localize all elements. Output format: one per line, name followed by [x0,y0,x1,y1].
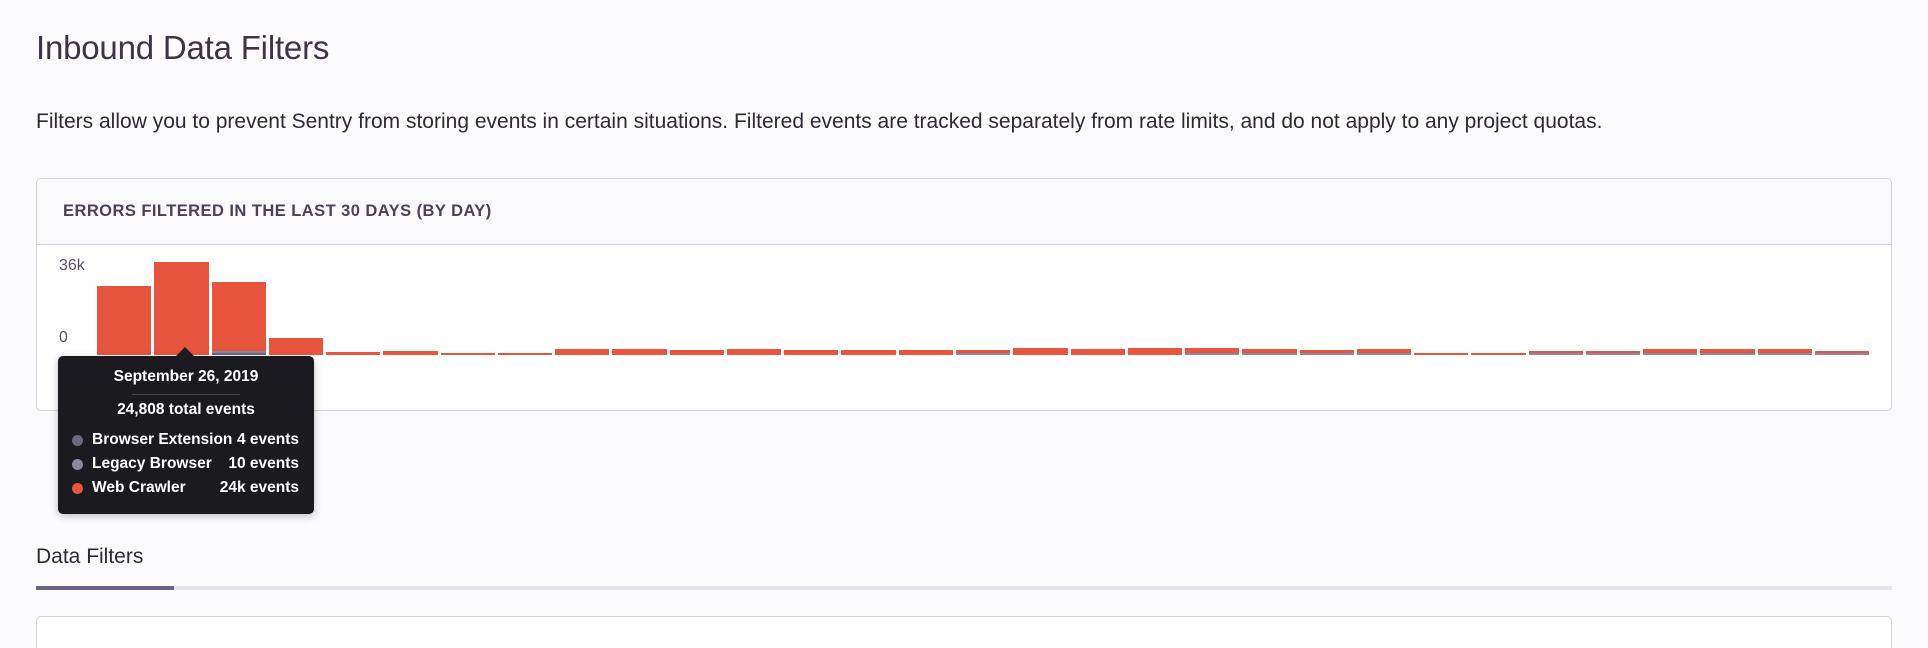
bar-segment [1128,348,1182,355]
tooltip-series-value: 10 events [228,455,299,473]
chart-bar[interactable] [670,255,724,355]
chart-bar[interactable] [727,255,781,355]
bar-segment [498,353,552,355]
chart-panel-header: ERRORS FILTERED IN THE LAST 30 DAYS (BY … [37,179,1891,245]
bar-segment [612,349,666,355]
tooltip-date: September 26, 2019 [58,368,314,394]
chart-panel-body: 36k 0 [37,245,1891,411]
series-color-dot-icon [72,435,83,446]
bar-segment [154,262,208,355]
page-description: Filters allow you to prevent Sentry from… [36,106,1876,139]
bar-segment [97,286,151,355]
tooltip-total-events: 24,808 total events [58,401,314,428]
bar-segment [1700,353,1754,355]
bar-segment [784,350,838,356]
bar-segment [269,338,323,355]
bar-segment [326,352,380,355]
chart-bar[interactable] [1185,255,1239,355]
chart-bar[interactable] [1586,255,1640,355]
bar-segment [1300,353,1354,355]
y-axis-max-label: 36k [59,257,85,275]
tooltip-divider [132,394,240,395]
chart-bar[interactable] [1414,255,1468,355]
chart-bar[interactable] [498,255,552,355]
filtered-events-chart-panel: ERRORS FILTERED IN THE LAST 30 DAYS (BY … [36,178,1892,411]
tooltip-series-list: Browser Extension4 eventsLegacy Browser1… [58,428,314,500]
chart-bar[interactable] [555,255,609,355]
bar-segment [212,353,266,355]
bar-segment [1471,353,1525,355]
chart-bar[interactable] [612,255,666,355]
chart-bar[interactable] [154,255,208,355]
chart-bar[interactable] [383,255,437,355]
data-filters-section: Data Filters [36,545,1892,590]
bar-segment [670,350,724,355]
bar-segment [1071,349,1125,355]
bar-segment [1242,353,1296,355]
bar-segment [212,282,266,351]
bar-segment [1185,353,1239,355]
chart-bar[interactable] [97,255,151,355]
tooltip-series-value: 4 events [237,431,299,449]
chart-bar[interactable] [1242,255,1296,355]
chart-bar[interactable] [441,255,495,355]
chart-hover-tooltip: September 26, 2019 24,808 total events B… [58,356,314,514]
tooltip-row: Browser Extension4 events [58,428,314,452]
chart-bar[interactable] [1758,255,1812,355]
bar-segment [1815,353,1869,355]
bar-segment [555,349,609,355]
chart-bar[interactable] [1471,255,1525,355]
bar-segment [1529,353,1583,355]
bar-segment [899,350,953,355]
bar-segment [841,350,895,355]
bar-segment [1643,353,1697,355]
chart-bar[interactable] [841,255,895,355]
chart-bar[interactable] [1529,255,1583,355]
series-color-dot-icon [72,459,83,470]
chart-bar[interactable] [784,255,838,355]
chart-bar[interactable] [1071,255,1125,355]
chart-bar[interactable] [269,255,323,355]
y-axis-min-label: 0 [59,329,68,347]
bar-segment [1758,353,1812,355]
bar-segment [1013,348,1067,355]
data-filters-heading: Data Filters [36,545,1892,569]
chart-bar[interactable] [326,255,380,355]
data-filters-card [36,616,1892,648]
bar-segment [1414,353,1468,356]
chart-bar[interactable] [1013,255,1067,355]
tooltip-arrow-icon [175,347,195,357]
section-underline [36,586,1892,590]
tooltip-series-name: Web Crawler [92,479,186,497]
filtered-events-bar-chart[interactable] [97,255,1869,355]
chart-bar[interactable] [1128,255,1182,355]
chart-bar[interactable] [212,255,266,355]
tooltip-row: Legacy Browser10 events [58,452,314,476]
bar-segment [1357,353,1411,355]
chart-bar[interactable] [1815,255,1869,355]
chart-bar[interactable] [1643,255,1697,355]
bar-segment [727,349,781,355]
tooltip-row: Web Crawler24k events [58,476,314,500]
chart-bar[interactable] [899,255,953,355]
chart-panel-title: ERRORS FILTERED IN THE LAST 30 DAYS (BY … [63,202,492,221]
chart-bar[interactable] [1300,255,1354,355]
bar-segment [1586,353,1640,355]
tooltip-series-value: 24k events [220,479,299,497]
page-title: Inbound Data Filters [36,0,1892,68]
chart-bar[interactable] [1700,255,1754,355]
chart-bar[interactable] [1357,255,1411,355]
tooltip-series-name: Browser Extension [92,431,232,449]
series-color-dot-icon [72,483,83,494]
bar-segment [383,351,437,355]
tooltip-series-name: Legacy Browser [92,455,212,473]
settings-page: Inbound Data Filters Filters allow you t… [0,0,1928,648]
chart-bar[interactable] [956,255,1010,355]
bar-segment [441,353,495,355]
bar-segment [956,353,1010,355]
